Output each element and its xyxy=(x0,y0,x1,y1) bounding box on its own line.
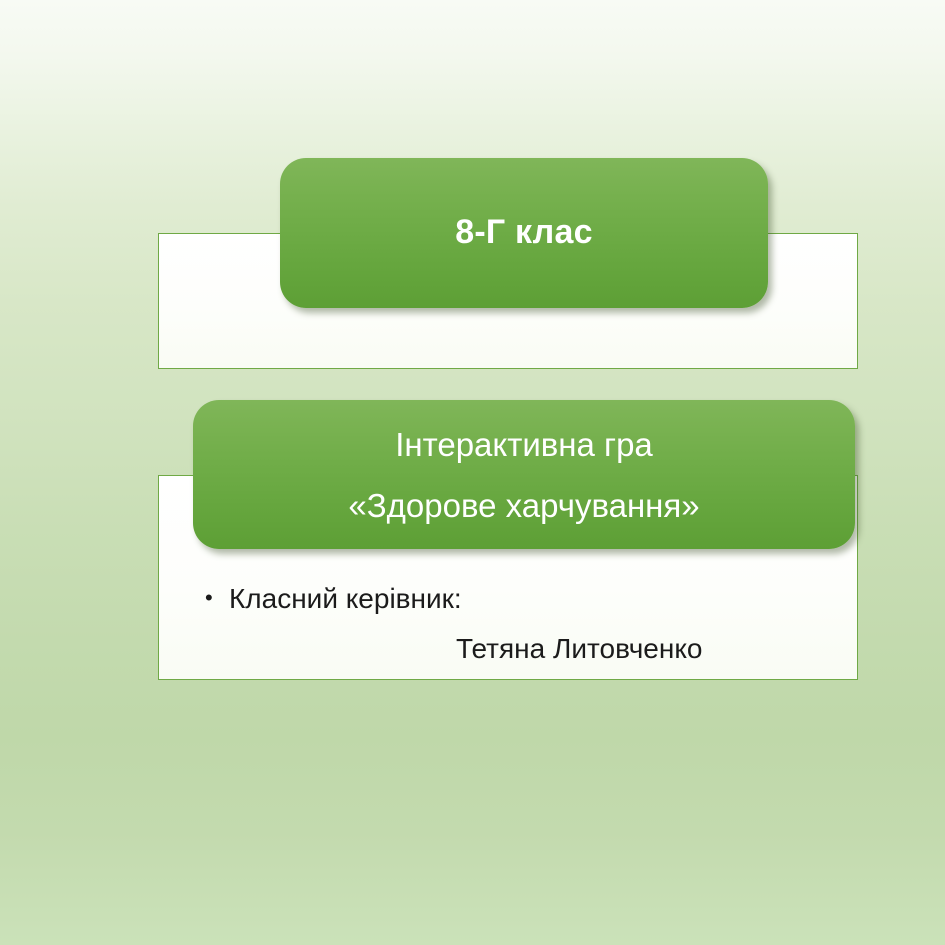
game-title-line-2: «Здорове харчування» xyxy=(348,489,699,522)
body-text-block: • Класний керівник: Тетяна Литовченко xyxy=(205,580,825,667)
class-name-callout[interactable]: 8-Г клас xyxy=(280,158,768,308)
homeroom-teacher-name: Тетяна Литовченко xyxy=(205,630,825,668)
presentation-slide: 8-Г клас Інтерактивна гра «Здорове харчу… xyxy=(0,0,945,945)
bullet-point-icon: • xyxy=(205,580,229,616)
class-name-text: 8-Г клас xyxy=(455,214,592,251)
list-item: • Класний керівник: xyxy=(205,580,825,618)
game-title-callout[interactable]: Інтерактивна гра «Здорове харчування» xyxy=(193,400,855,549)
game-title-line-1: Інтерактивна гра xyxy=(395,428,653,461)
homeroom-teacher-label: Класний керівник: xyxy=(229,580,462,618)
